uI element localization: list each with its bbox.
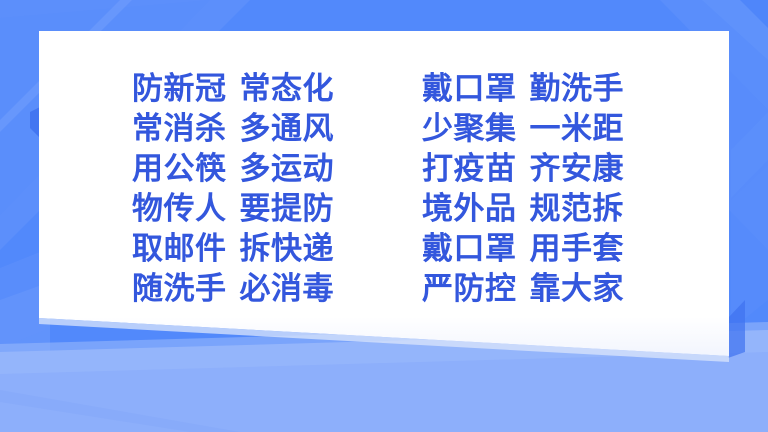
slogan-phrase: 规范拆	[530, 194, 625, 225]
slogan-phrase: 境外品	[422, 194, 517, 225]
slogan-row: 防新冠 常态化 戴口罩 勤洗手	[132, 74, 652, 114]
slogan-col-right: 少聚集 一米距	[422, 114, 652, 145]
slogan-col-right: 戴口罩 用手套	[422, 234, 652, 265]
slogan-phrase: 随洗手	[132, 274, 227, 305]
slogan-phrase: 严防控	[422, 274, 517, 305]
slogan-phrase: 常态化	[240, 74, 335, 105]
slogan-phrase: 物传人	[132, 194, 227, 225]
slogan-phrase: 多通风	[240, 114, 335, 145]
slogan-row: 用公筷 多运动 打疫苗 齐安康	[132, 154, 652, 194]
slogan-phrase: 用公筷	[132, 154, 227, 185]
slogan-phrase: 戴口罩	[422, 234, 517, 265]
slogan-phrase: 必消毒	[240, 274, 335, 305]
slogan-col-right: 严防控 靠大家	[422, 274, 652, 305]
slogan-col-right: 打疫苗 齐安康	[422, 154, 652, 185]
slogan-phrase: 取邮件	[132, 234, 227, 265]
slogan-phrase: 齐安康	[530, 154, 625, 185]
slogan-phrase: 打疫苗	[422, 154, 517, 185]
slogan-col-left: 常消杀 多通风	[132, 114, 422, 145]
slogan-phrase: 防新冠	[132, 74, 227, 105]
slogan-col-left: 物传人 要提防	[132, 194, 422, 225]
slogan-row: 随洗手 必消毒 严防控 靠大家	[132, 274, 652, 314]
slogan-col-left: 用公筷 多运动	[132, 154, 422, 185]
slogan-phrase: 戴口罩	[422, 74, 517, 105]
slogan-row: 取邮件 拆快递 戴口罩 用手套	[132, 234, 652, 274]
slogan-phrase: 勤洗手	[530, 74, 625, 105]
slogan-phrase: 多运动	[240, 154, 335, 185]
slogan-phrase: 常消杀	[132, 114, 227, 145]
slogan-phrase: 用手套	[530, 234, 625, 265]
slogan-col-left: 随洗手 必消毒	[132, 274, 422, 305]
poster-canvas: 防新冠 常态化 戴口罩 勤洗手 常消杀 多通风 少聚集 一米距 用公筷 多运动	[0, 0, 768, 432]
slogan-grid: 防新冠 常态化 戴口罩 勤洗手 常消杀 多通风 少聚集 一米距 用公筷 多运动	[132, 74, 652, 314]
slogan-col-left: 防新冠 常态化	[132, 74, 422, 105]
slogan-phrase: 一米距	[530, 114, 625, 145]
slogan-row: 物传人 要提防 境外品 规范拆	[132, 194, 652, 234]
slogan-phrase: 要提防	[240, 194, 335, 225]
slogan-phrase: 少聚集	[422, 114, 517, 145]
slogan-phrase: 拆快递	[240, 234, 335, 265]
slogan-col-right: 戴口罩 勤洗手	[422, 74, 652, 105]
slogan-phrase: 靠大家	[530, 274, 625, 305]
slogan-row: 常消杀 多通风 少聚集 一米距	[132, 114, 652, 154]
slogan-col-left: 取邮件 拆快递	[132, 234, 422, 265]
slogan-col-right: 境外品 规范拆	[422, 194, 652, 225]
